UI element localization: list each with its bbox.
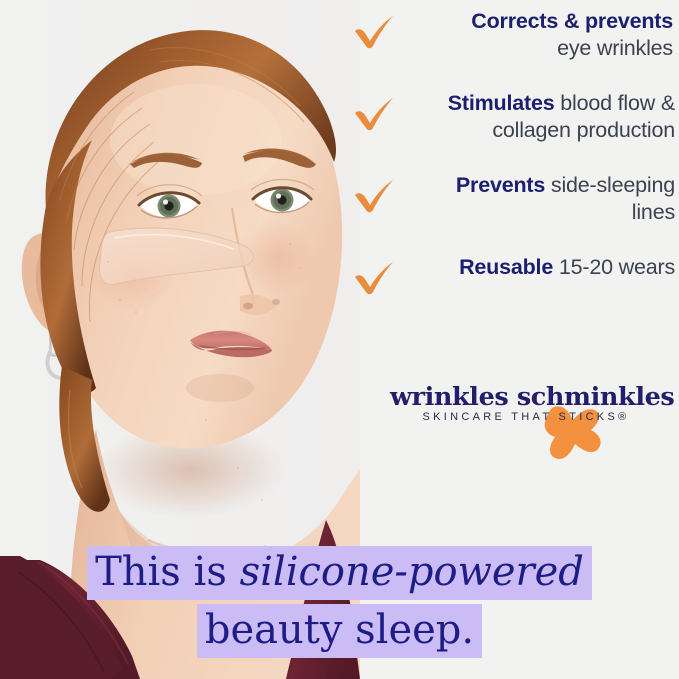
benefit-text: Stimulates blood flow & collagen product… [408,90,679,144]
benefit-text: Prevents side-sleeping lines [408,172,679,226]
tagline-highlight-1: This is silicone-powered [87,546,592,600]
benefit-item: Reusable 15-20 wears [348,254,679,316]
benefit-rest: eye wrinkles [557,36,673,60]
tagline-line-2: beauty sleep. [0,604,679,658]
benefit-bold: Stimulates [448,91,555,115]
logo-tagline: SKINCARE THAT STICKS® [390,411,662,423]
benefits-list: Corrects & prevents eye wrinkles Stimula… [348,8,679,336]
tagline-block: This is silicone-powered beauty sleep. [0,546,679,658]
brand-logo: wrinkles schminkles SKINCARE THAT STICKS… [390,378,670,470]
tagline-italic: silicone-powered [240,549,584,595]
benefit-item: Stimulates blood flow & collagen product… [348,90,679,152]
check-icon [352,176,396,216]
benefit-item: Corrects & prevents eye wrinkles [348,8,679,70]
product-marketing-image: Corrects & prevents eye wrinkles Stimula… [0,0,679,679]
benefit-rest: side-sleeping lines [551,173,675,224]
check-icon [352,12,396,52]
benefit-text: Corrects & prevents eye wrinkles [408,8,679,62]
benefit-bold: Prevents [456,173,545,197]
benefit-item: Prevents side-sleeping lines [348,172,679,234]
check-icon [352,258,396,298]
logo-wordmark: wrinkles schminkles [390,382,662,412]
benefit-rest: 15-20 wears [559,255,675,279]
benefit-bold: Reusable [459,255,553,279]
tagline-highlight-2: beauty sleep. [197,604,482,658]
benefit-bold: Corrects & prevents [471,9,673,33]
check-icon [352,94,396,134]
tagline-line-1: This is silicone-powered [0,546,679,600]
benefit-text: Reusable 15-20 wears [408,254,679,281]
tagline-plain: This is [95,549,240,595]
